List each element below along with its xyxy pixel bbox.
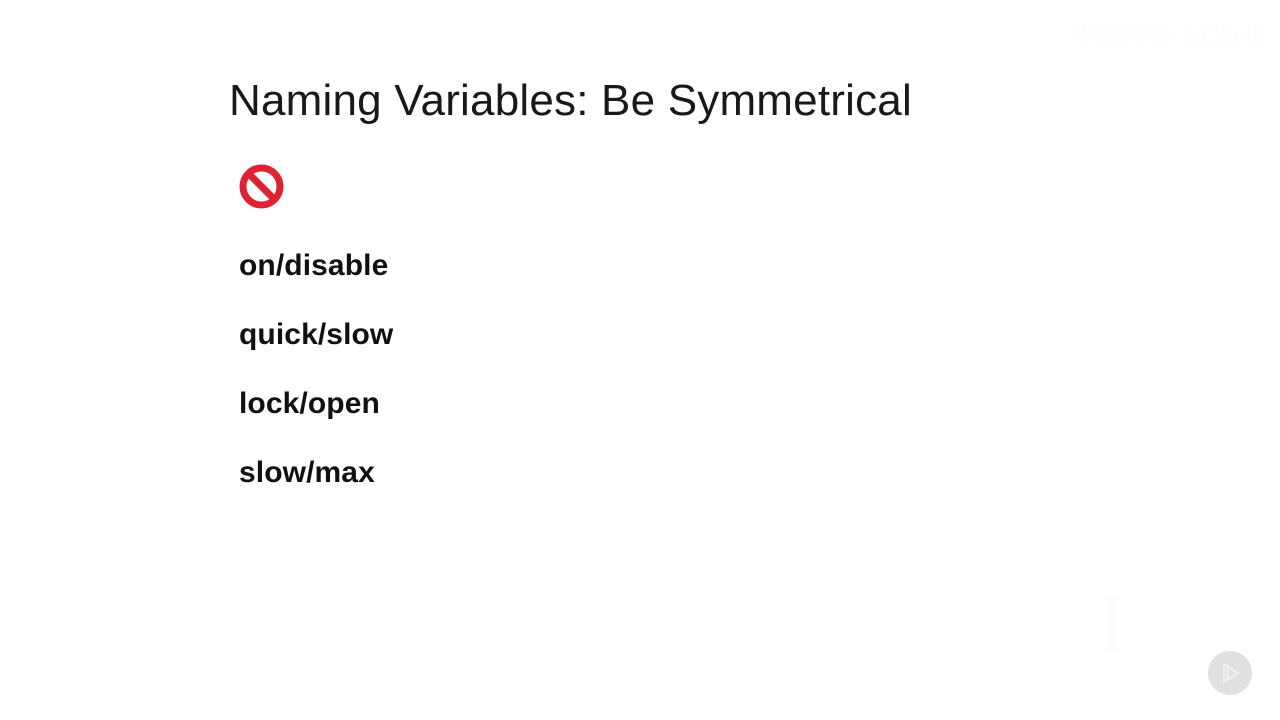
prohibition-icon (239, 164, 284, 209)
page-title: Naming Variables: Be Symmetrical (229, 76, 912, 127)
watermark-brand-text: bilibili (1185, 19, 1264, 53)
example-label: on/disable (239, 251, 388, 281)
play-badge-icon[interactable] (1208, 651, 1252, 695)
list-item: lock/open (239, 369, 859, 438)
list-item: quick/slow (239, 300, 859, 369)
list-item: slow/max (239, 438, 859, 507)
channel-watermark: 哔哩哔哩 bilibili (1069, 18, 1264, 54)
bad-examples-block: on/disable quick/slow lock/open slow/max (239, 164, 859, 507)
example-label: lock/open (239, 389, 380, 419)
slide-canvas: Naming Variables: Be Symmetrical on/disa… (0, 0, 1280, 720)
example-list: on/disable quick/slow lock/open slow/max (239, 231, 859, 507)
faint-artifact (1108, 596, 1117, 652)
example-label: quick/slow (239, 320, 393, 350)
example-label: slow/max (239, 458, 375, 488)
list-item: on/disable (239, 231, 859, 300)
watermark-cn-text: 哔哩哔哩 (1069, 18, 1173, 54)
